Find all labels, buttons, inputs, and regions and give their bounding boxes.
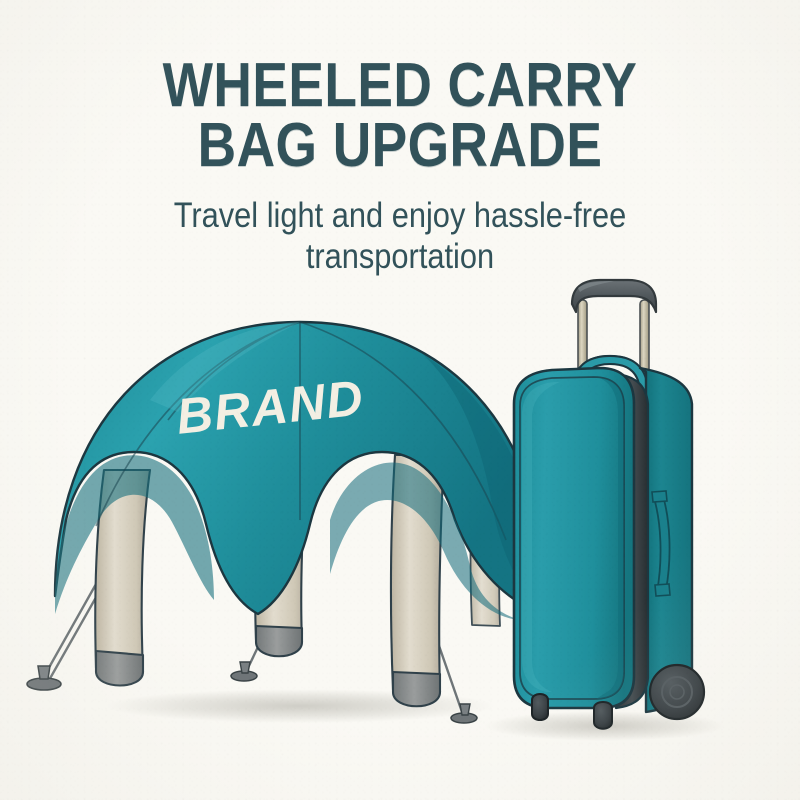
poster: BRAND — [0, 0, 800, 800]
page-subtitle: Travel light and enjoy hassle-free trans… — [48, 195, 752, 278]
suitcase-wheel-rear — [650, 665, 704, 719]
tent-stake-center — [231, 662, 257, 681]
tent-graphic: BRAND — [27, 322, 545, 723]
headline-line-2: BAG UPGRADE — [56, 116, 744, 176]
headline-line-1: WHEELED CARRY — [163, 51, 638, 120]
suitcase-graphic — [514, 280, 704, 729]
suitcase-foot-right — [594, 702, 612, 729]
text-block: WHEELED CARRY BAG UPGRADE Travel light a… — [0, 56, 800, 278]
suitcase-foot-left — [532, 694, 548, 720]
subtitle-line-1: Travel light and enjoy hassle-free — [174, 196, 627, 235]
subtitle-line-2: transportation — [48, 236, 752, 277]
page-title: WHEELED CARRY BAG UPGRADE — [56, 56, 744, 175]
